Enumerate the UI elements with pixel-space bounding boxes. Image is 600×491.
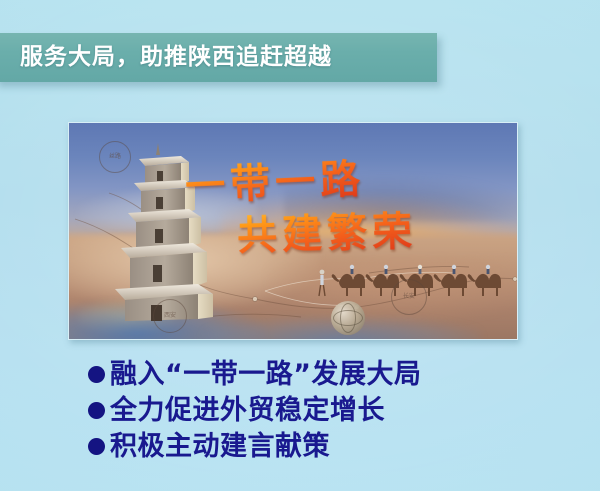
seal-stamp-1: 丝路 — [99, 141, 131, 173]
bullet-label: 全力促进外贸稳定增长 — [110, 397, 385, 424]
bullet-list: 融入“一带一路”发展大局 全力促进外贸稳定增长 积极主动建言献策 — [88, 356, 558, 464]
title-banner: 服务大局，助推陕西追赶超越 — [0, 33, 437, 82]
slide-canvas: 服务大局，助推陕西追赶超越 — [0, 0, 600, 491]
globe-icon — [331, 301, 365, 335]
calligraphy-line-2: 共建繁荣 — [236, 199, 417, 262]
bullet-dot-icon — [88, 366, 105, 383]
bullet-label: 积极主动建言献策 — [110, 433, 330, 460]
bullet-label: 融入“一带一路”发展大局 — [110, 361, 422, 388]
bullet-dot-icon — [88, 438, 105, 455]
list-item: 融入“一带一路”发展大局 — [88, 356, 558, 392]
page-title: 服务大局，助推陕西追赶超越 — [20, 46, 332, 69]
list-item: 积极主动建言献策 — [88, 428, 558, 464]
belt-and-road-illustration: 一带一路 共建繁荣 — [68, 122, 518, 340]
walking-figure — [319, 270, 325, 296]
list-item: 全力促进外贸稳定增长 — [88, 392, 558, 428]
bullet-dot-icon — [88, 402, 105, 419]
seal-stamp-2: 西安 — [153, 299, 187, 333]
seal-stamp-3: 长安 — [391, 279, 427, 315]
